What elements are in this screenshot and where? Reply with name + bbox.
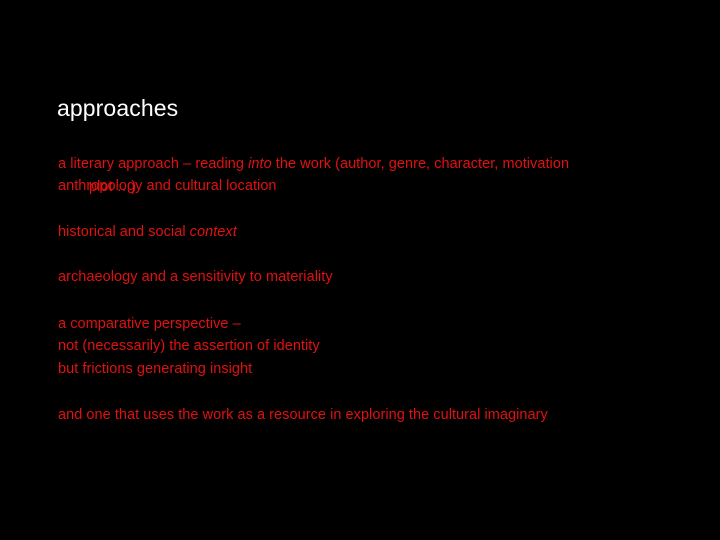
- text-run: historical and social: [58, 224, 190, 240]
- text-run: not (necessarily) the assertion of ident…: [58, 338, 320, 354]
- bullet-line: anthropology and cultural location: [58, 175, 678, 198]
- text-run-italic: context: [190, 224, 237, 240]
- bullet-group-comparative-perspective: a comparative perspective – not (necessa…: [58, 313, 678, 381]
- text-run: a comparative perspective –: [58, 316, 241, 332]
- slide-body: a literary approach – reading into the w…: [58, 153, 678, 426]
- bullet-line: a literary approach – reading into the w…: [58, 153, 678, 176]
- bullet-group-anthropology: anthropology and cultural location: [58, 175, 678, 198]
- bullet-group-historical-context: historical and social context: [58, 221, 678, 244]
- text-run: archaeology and a sensitivity to materia…: [58, 269, 333, 285]
- text-run: the work (author, genre, character, moti…: [272, 156, 569, 172]
- bullet-line: archaeology and a sensitivity to materia…: [58, 266, 678, 289]
- text-run: and one that uses the work as a resource…: [58, 407, 548, 423]
- bullet-group-archaeology-materiality: archaeology and a sensitivity to materia…: [58, 266, 678, 289]
- bullet-line: but frictions generating insight: [58, 358, 678, 381]
- text-run-italic: into: [248, 156, 272, 172]
- bullet-line: not (necessarily) the assertion of ident…: [58, 335, 678, 358]
- text-run: anthropology and cultural location: [58, 178, 277, 194]
- bullet-group-cultural-imaginary: and one that uses the work as a resource…: [58, 404, 678, 427]
- bullet-line: a comparative perspective –: [58, 313, 678, 336]
- slide-canvas: approaches a literary approach – reading…: [0, 0, 720, 540]
- text-run: but frictions generating insight: [58, 361, 252, 377]
- page-title: approaches: [57, 95, 657, 121]
- bullet-line: historical and social context: [58, 221, 678, 244]
- text-run: a literary approach – reading: [58, 156, 248, 172]
- bullet-line: and one that uses the work as a resource…: [58, 404, 678, 427]
